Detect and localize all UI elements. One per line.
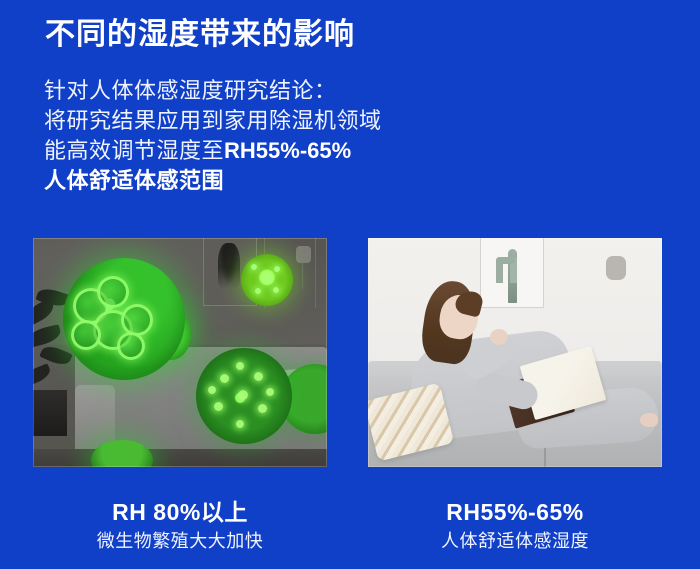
caption-comfort-humidity: RH55%-65% 人体舒适体感湿度 [368,498,662,554]
germ-cell [71,320,101,350]
wall-speaker-icon [296,246,311,263]
humidity-infographic: 不同的湿度带来的影响 针对人体体感湿度研究结论： 将研究结果应用到家用除湿机领域… [0,0,700,569]
page-title: 不同的湿度带来的影响 [45,17,355,53]
plant-leaf [33,324,62,348]
caption-subtitle: 人体舒适体感湿度 [368,528,662,554]
germ-dot [238,390,248,400]
dark-room-scene [33,238,327,467]
germ-dot [266,388,274,396]
germ-dot [255,288,261,294]
germ-dot [274,266,280,272]
germ-dot [258,404,267,413]
germ-dot [236,362,244,370]
floor [33,449,327,467]
body-copy: 针对人体体感湿度研究结论： 将研究结果应用到家用除湿机领域 能高效调节湿度至RH… [44,76,474,196]
body-line-2: 将研究结果应用到家用除湿机领域 [44,106,474,136]
bright-room-scene [368,238,662,467]
germ-dot [208,386,216,394]
body-line-3-regular: 能高效调节湿度至 [44,138,224,163]
germ-dot [251,264,257,270]
germ-dot [273,287,279,293]
germ-dot [261,272,273,284]
caption-high-humidity: RH 80%以上 微生物繁殖大大加快 [33,498,327,554]
germ-cell [121,304,153,336]
germ-dot [254,372,263,381]
germ-sphere-small [241,254,293,306]
body-line-4: 人体舒适体感范围 [44,166,474,196]
wall-speaker-icon [606,256,626,280]
plant-pot [33,390,67,436]
body-line-3: 能高效调节湿度至RH55%-65% [44,136,474,166]
germ-cell [117,332,145,360]
germ-dot [214,402,223,411]
plant-leaf [33,363,53,386]
body-line-1: 针对人体体感湿度研究结论： [44,76,474,106]
germ-cell [97,276,129,308]
photo-high-humidity [33,238,327,467]
woman-hand [490,329,508,345]
cactus-art-frame-icon [480,238,544,308]
caption-title: RH55%-65% [368,498,662,526]
cactus-icon [508,249,517,303]
germ-sphere-dark [196,348,292,444]
woman-foot [640,413,658,427]
germ-dot [220,374,229,383]
germ-sphere-large [63,258,185,380]
photo-comfort-humidity [368,238,662,467]
germ-dot [236,420,244,428]
body-line-3-highlight: RH55%-65% [224,138,351,163]
caption-subtitle: 微生物繁殖大大加快 [33,528,327,554]
caption-title: RH 80%以上 [33,498,327,526]
